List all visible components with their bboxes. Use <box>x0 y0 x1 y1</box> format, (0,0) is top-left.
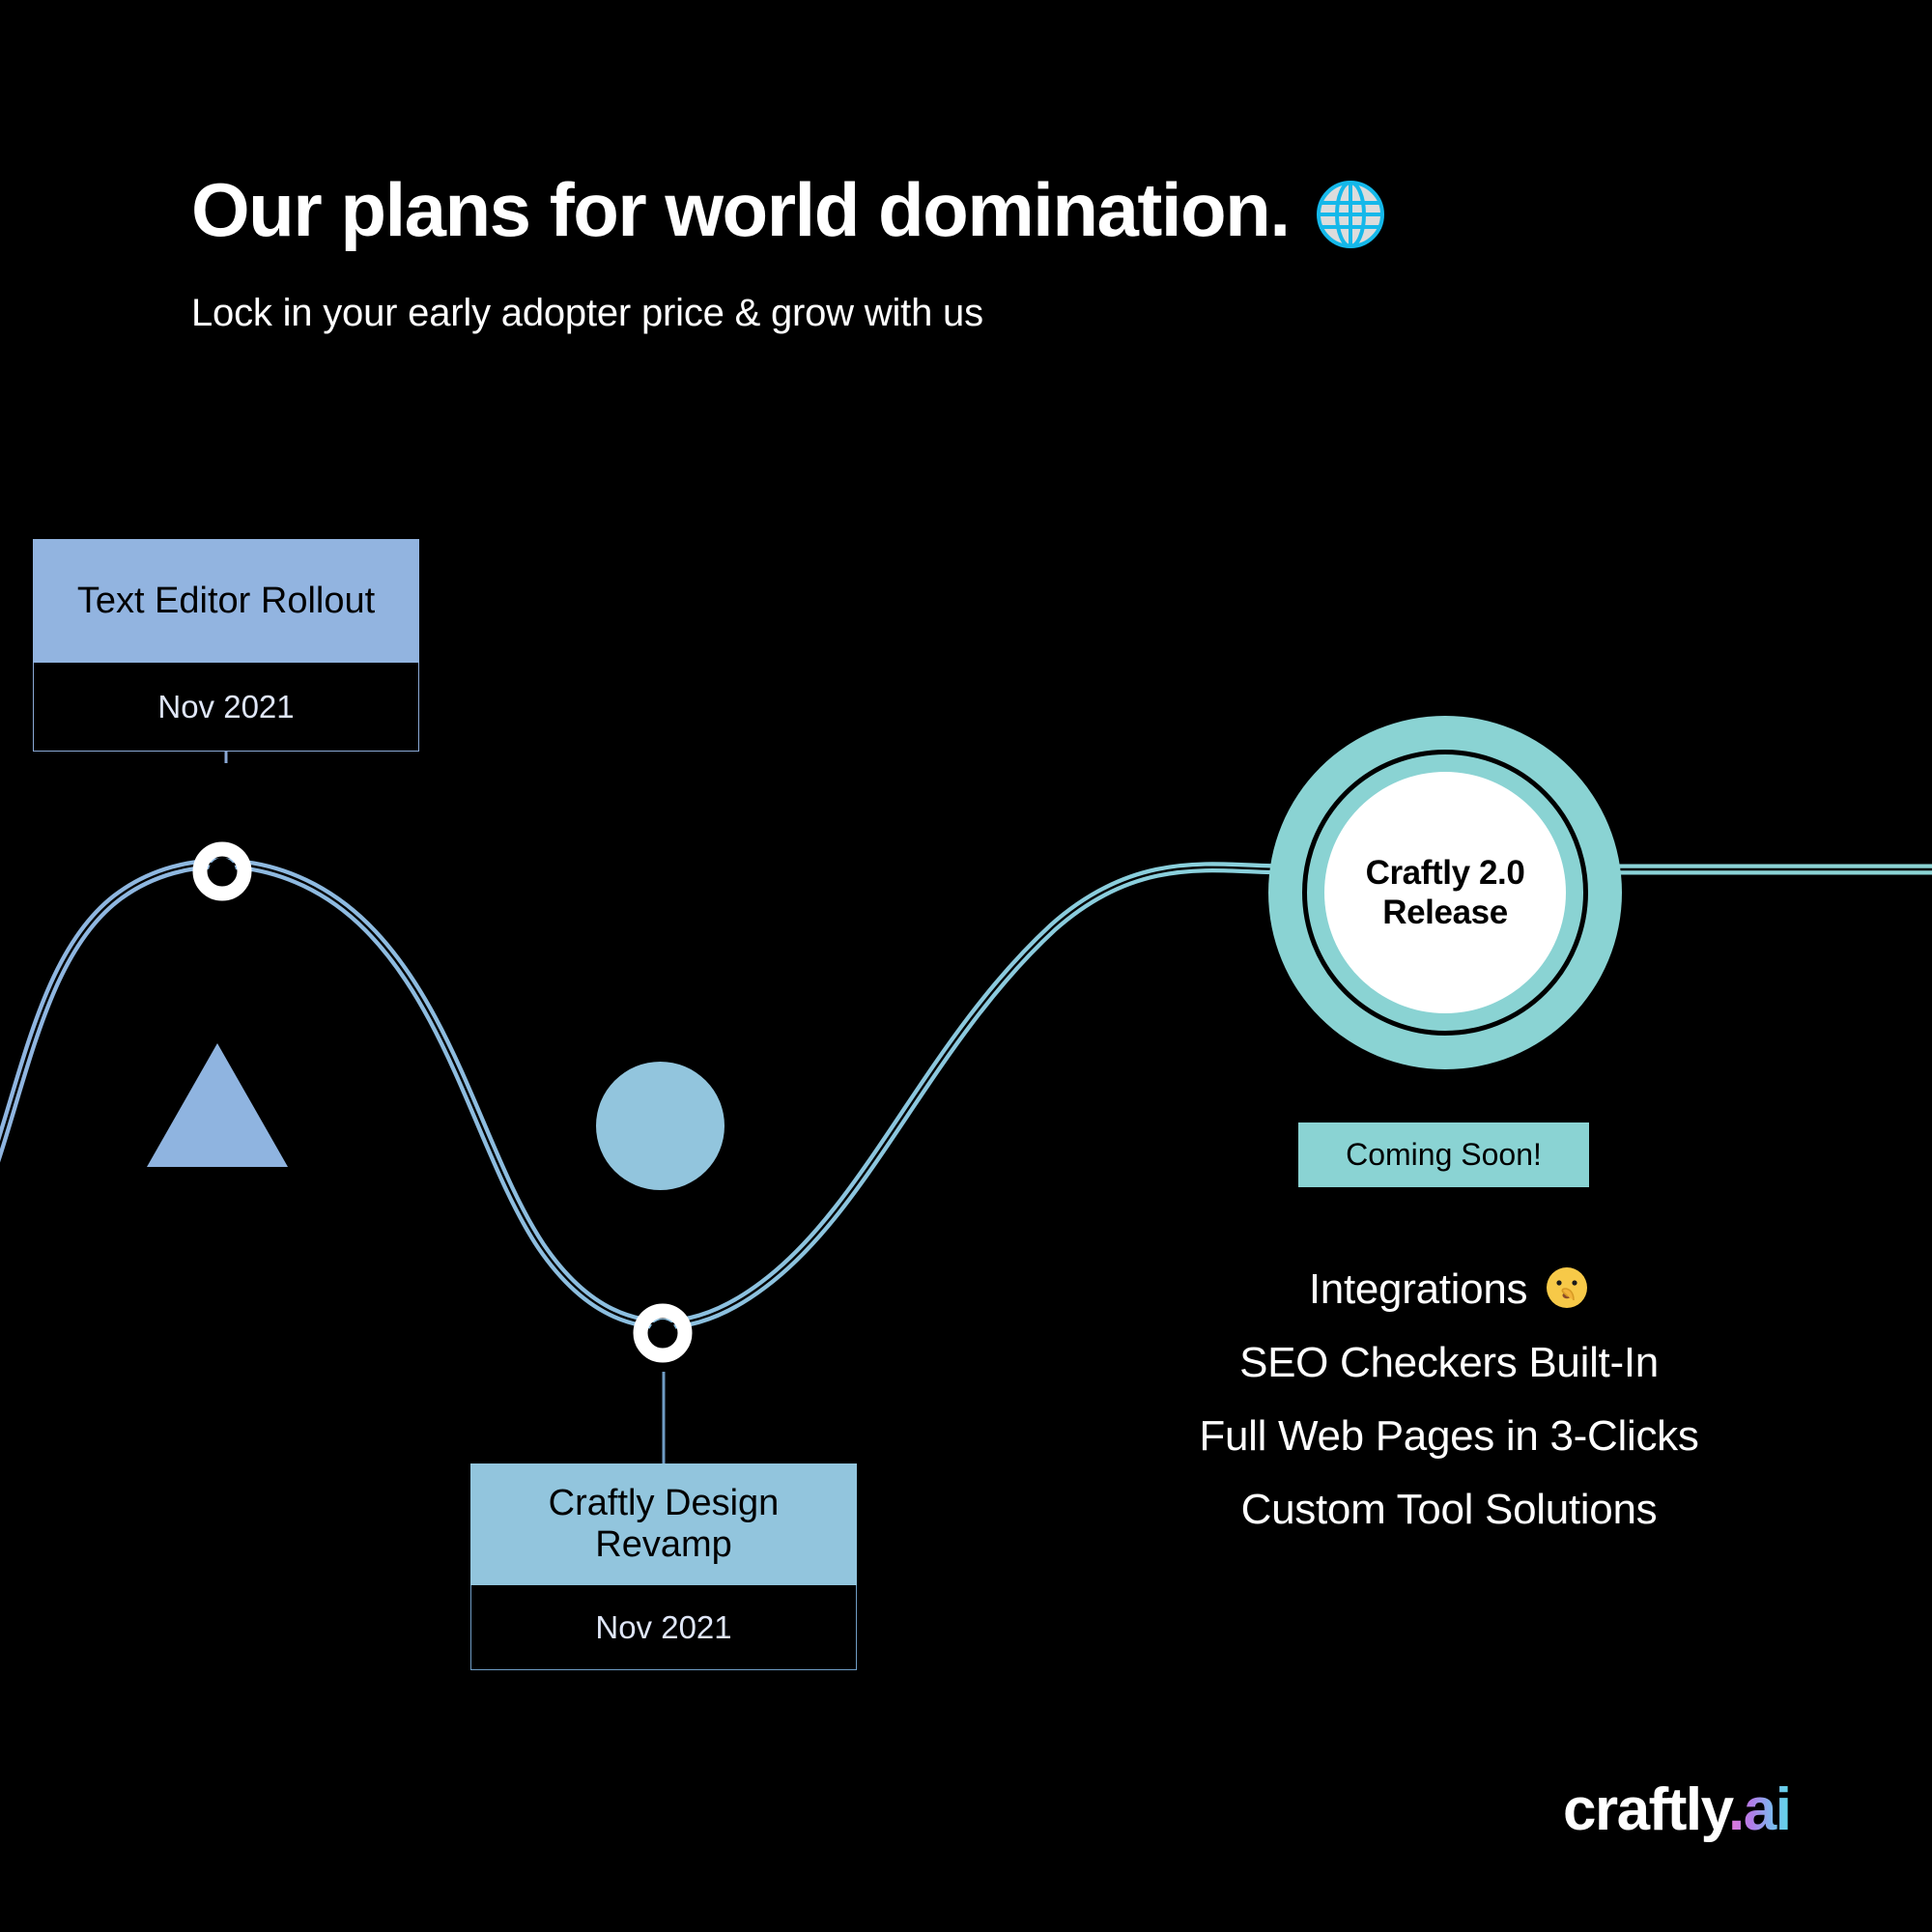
release-node-label: Craftly 2.0 Release <box>1366 853 1525 933</box>
brand-logo: craftly.ai <box>1563 1780 1790 1840</box>
milestone-date: Nov 2021 <box>470 1585 857 1670</box>
page-title: Our plans for world domination. <box>191 172 1737 249</box>
node-marker-design-revamp <box>640 1311 685 1355</box>
page-title-text: Our plans for world domination. <box>191 172 1290 249</box>
release-node-label-line1: Craftly 2.0 <box>1366 853 1525 893</box>
release-node-craftly-2-0[interactable]: Craftly 2.0 Release <box>1268 716 1622 1069</box>
decorative-triangle-icon <box>147 1043 288 1167</box>
shushing-face-icon <box>1545 1265 1589 1310</box>
release-node-core: Craftly 2.0 Release <box>1324 772 1566 1013</box>
feature-label: Integrations <box>1309 1265 1527 1313</box>
feature-item: Full Web Pages in 3-Clicks <box>1063 1415 1835 1458</box>
feature-item: Integrations <box>1063 1265 1835 1311</box>
release-node-label-line2: Release <box>1366 893 1525 932</box>
release-node-ring: Craftly 2.0 Release <box>1302 750 1588 1036</box>
road-curve <box>0 864 1932 1324</box>
milestone-date: Nov 2021 <box>33 663 419 752</box>
brand-logo-tld: .ai <box>1728 1776 1790 1843</box>
feature-item: Custom Tool Solutions <box>1063 1489 1835 1531</box>
feature-item: SEO Checkers Built-In <box>1063 1342 1835 1384</box>
brand-logo-name: craftly <box>1563 1776 1728 1843</box>
feature-list: Integrations SEO Checkers Built-In Full … <box>1063 1265 1835 1531</box>
node-marker-text-editor <box>200 849 244 894</box>
page-subtitle: Lock in your early adopter price & grow … <box>191 292 1737 335</box>
header: Our plans for world domination. Lock in … <box>191 172 1737 335</box>
milestone-title: Text Editor Rollout <box>33 539 419 663</box>
status-badge-coming-soon: Coming Soon! <box>1298 1122 1589 1187</box>
milestone-card-text-editor-rollout[interactable]: Text Editor Rollout Nov 2021 <box>33 539 419 752</box>
milestone-title: Craftly Design Revamp <box>470 1463 857 1585</box>
decorative-circle-icon <box>596 1062 724 1190</box>
globe-icon <box>1315 179 1386 250</box>
milestone-card-craftly-design-revamp[interactable]: Craftly Design Revamp Nov 2021 <box>470 1463 857 1670</box>
roadmap-infographic: Our plans for world domination. Lock in … <box>0 0 1932 1932</box>
